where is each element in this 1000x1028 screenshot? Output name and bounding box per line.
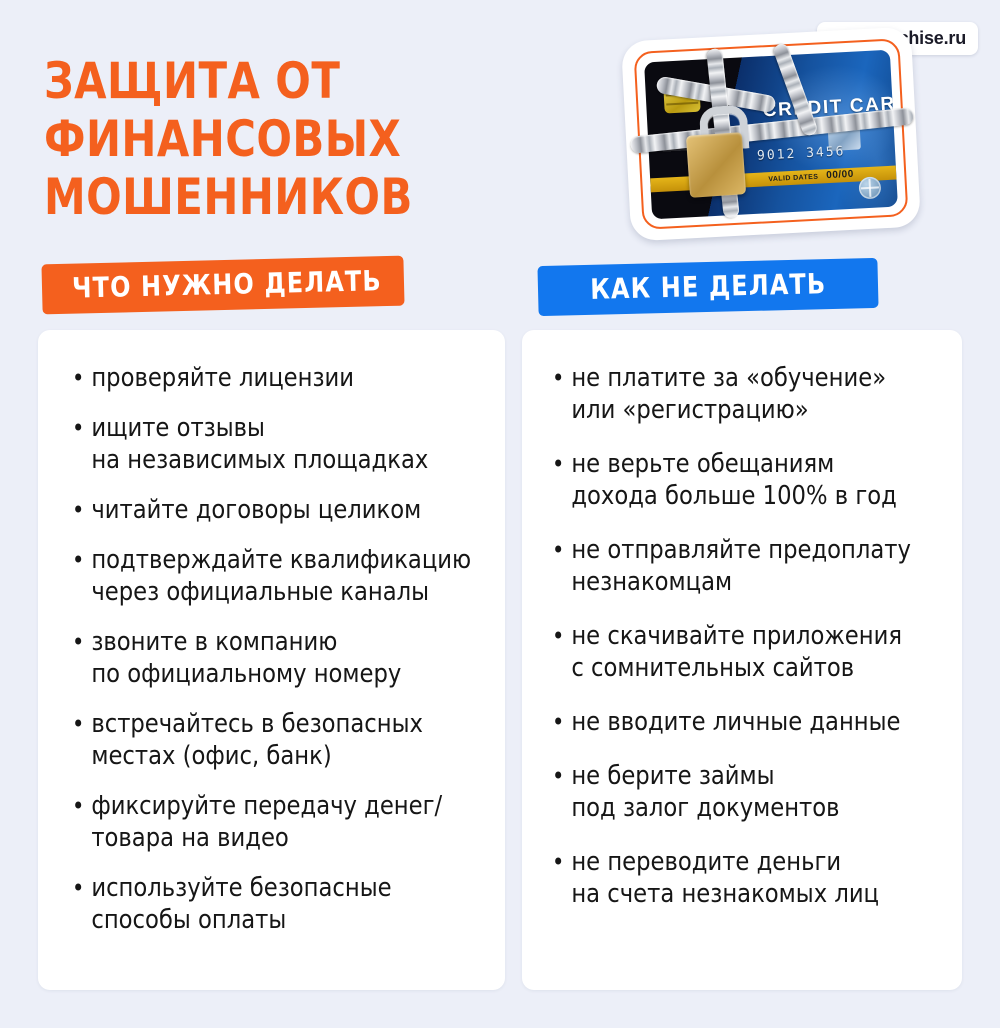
do-panel: проверяйте лицензии ищите отзывы на неза… [38, 330, 505, 990]
list-item: используйте безопасные способы оплаты [70, 872, 482, 936]
list-item: не верьте обещаниям дохода больше 100% в… [550, 448, 940, 512]
card-valid-label: VALID DATES [768, 174, 818, 184]
list-item: встречайтесь в безопасных местах (офис, … [70, 708, 482, 772]
badge-what-to-do: ЧТО НУЖНО ДЕЛАТЬ [41, 256, 404, 315]
list-item: не платите за «обучение» или «регистраци… [550, 362, 940, 426]
list-item: читайте договоры целиком [70, 494, 482, 526]
padlock-body-icon [686, 132, 746, 198]
list-item: не берите займы под залог документов [550, 760, 940, 824]
list-item: не отправляйте предоплату незнакомцам [550, 534, 940, 598]
dont-list: не платите за «обучение» или «регистраци… [522, 362, 962, 932]
list-item: ищите отзывы на независимых площадках [70, 412, 482, 476]
list-item: фиксируйте передачу денег/ товара на вид… [70, 790, 482, 854]
do-list: проверяйте лицензии ищите отзывы на неза… [38, 362, 505, 954]
badge-what-to-do-label: ЧТО НУЖНО ДЕЛАТЬ [72, 267, 382, 303]
card-valid-value: 00/00 [826, 169, 854, 181]
list-item: проверяйте лицензии [70, 362, 482, 394]
credit-card-lock-illustration: CREDIT CARD 9012 3456 VALID DATES00/00 [626, 34, 916, 234]
badge-what-not-to-do-label: КАК НЕ ДЕЛАТЬ [590, 270, 827, 304]
list-item: не скачивайте приложения с сомнительных … [550, 620, 940, 684]
header: ЗАЩИТА ОТ ФИНАНСОВЫХ МОШЕННИКОВ TopFranc… [0, 0, 1000, 250]
list-item: подтверждайте квалификацию через официал… [70, 544, 482, 608]
list-item: не вводите личные данные [550, 706, 940, 738]
list-item: не переводите деньги на счета незнакомых… [550, 846, 940, 910]
list-item: звоните в компанию по официальному номер… [70, 626, 482, 690]
page-title: ЗАЩИТА ОТ ФИНАНСОВЫХ МОШЕННИКОВ [44, 52, 602, 226]
dont-panel: не платите за «обучение» или «регистраци… [522, 330, 962, 990]
badge-what-not-to-do: КАК НЕ ДЕЛАТЬ [537, 258, 878, 316]
